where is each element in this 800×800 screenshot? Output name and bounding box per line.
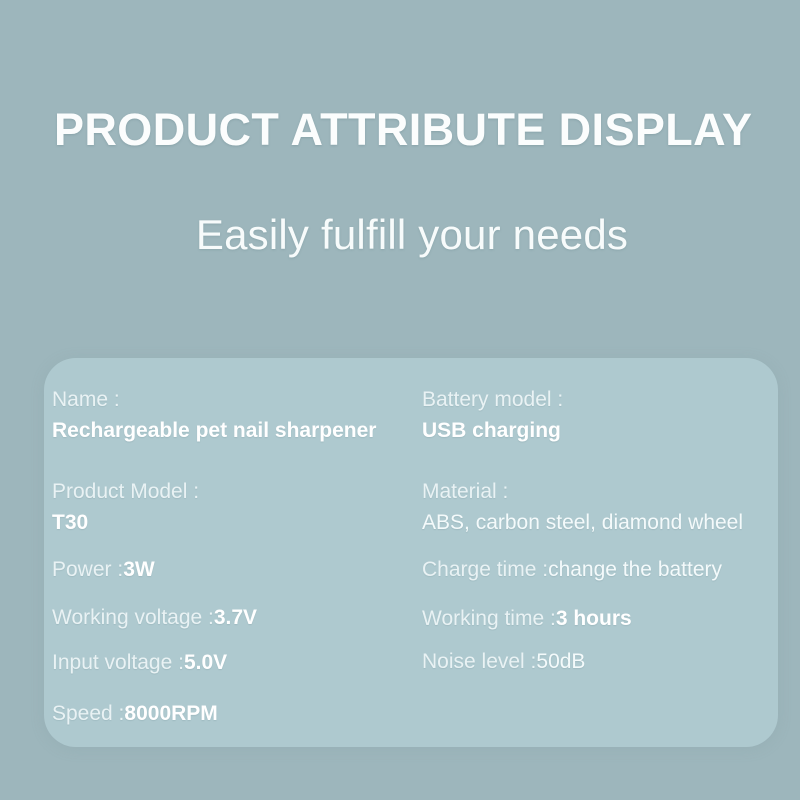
spec-row-working-voltage: Working voltage :3.7V [52,606,422,630]
spec-value: 5.0V [184,651,227,674]
spec-value: T30 [52,511,422,535]
spec-label: Product Model : [52,480,422,504]
spec-row-battery-model: Battery model :USB charging [422,388,772,443]
spec-label: Speed : [52,702,124,725]
spec-label: Working voltage : [52,606,214,629]
spec-value: 3.7V [214,606,257,629]
spec-label: Name : [52,388,422,412]
spec-label: Material : [422,480,772,504]
spec-value: USB charging [422,419,772,443]
spec-label: Working time : [422,607,556,630]
spec-value: ABS, carbon steel, diamond wheel [422,511,772,535]
spec-row-name: Name :Rechargeable pet nail sharpener [52,388,422,443]
spec-row-material: Material :ABS, carbon steel, diamond whe… [422,480,772,535]
product-attribute-poster: PRODUCT ATTRIBUTE DISPLAY Easily fulfill… [0,0,800,800]
spec-value: change the battery [548,558,722,581]
page-title: PRODUCT ATTRIBUTE DISPLAY [54,104,770,156]
spec-label: Battery model : [422,388,772,412]
specification-card: Name :Rechargeable pet nail sharpenerPro… [44,358,778,747]
spec-row-input-voltage: Input voltage :5.0V [52,651,422,675]
spec-row-speed: Speed :8000RPM [52,702,422,726]
spec-value: 3 hours [556,607,632,630]
spec-value: Rechargeable pet nail sharpener [52,419,422,443]
spec-value: 8000RPM [124,702,217,725]
spec-row-noise-level: Noise level :50dB [422,650,772,674]
spec-row-charge-time: Charge time :change the battery [422,558,772,582]
spec-row-working-time: Working time :3 hours [422,607,772,631]
spec-value: 50dB [536,650,585,673]
spec-value: 3W [123,558,155,581]
spec-label: Charge time : [422,558,548,581]
spec-label: Noise level : [422,650,536,673]
spec-label: Input voltage : [52,651,184,674]
spec-row-power: Power :3W [52,558,422,582]
spec-row-product-model: Product Model :T30 [52,480,422,535]
page-subtitle: Easily fulfill your needs [54,211,770,259]
spec-label: Power : [52,558,123,581]
